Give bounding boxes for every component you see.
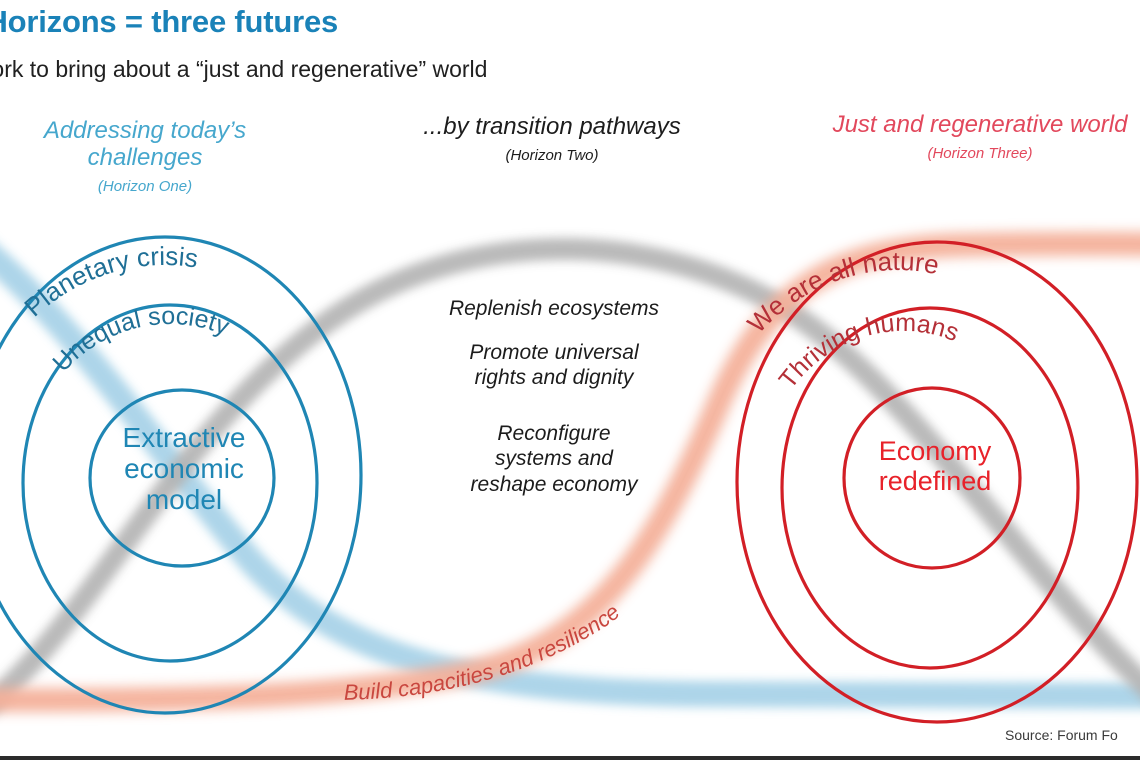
column-heading-horizon-one: Addressing today’s challenges (Horizon O…: [0, 118, 290, 196]
horizon-two-subheading: (Horizon Two): [352, 148, 752, 165]
pathway-line-4: Reconfigure: [393, 421, 715, 447]
pathway-line-3: rights and dignity: [393, 365, 715, 391]
pathway-line-2: Promote universal: [393, 340, 715, 366]
horizon-three-subheading: (Horizon Three): [820, 146, 1140, 163]
source-attribution: Source: Forum Fo: [1005, 727, 1118, 743]
horizon-three-heading: Just and regenerative world: [820, 112, 1140, 139]
horizon-one-subheading: (Horizon One): [0, 179, 290, 196]
page-title: e Horizons = three futures: [0, 4, 338, 40]
column-heading-horizon-two: ...by transition pathways (Horizon Two): [352, 114, 752, 165]
pathway-line-1: Replenish ecosystems: [393, 296, 715, 322]
page-subtitle: ework to bring about a “just and regener…: [0, 56, 487, 83]
svg-text:Unequal society: Unequal society: [47, 302, 233, 377]
column-heading-horizon-three: Just and regenerative world (Horizon Thr…: [820, 112, 1140, 163]
transition-pathways-text: Replenish ecosystems Promote universal r…: [393, 296, 715, 498]
pathway-line-5: systems and: [393, 446, 715, 472]
horizon-one-heading: Addressing today’s challenges: [0, 118, 290, 172]
bottom-rule: [0, 756, 1140, 760]
right-core-label: Economy redefined: [845, 437, 1025, 496]
left-ring-labels: Planetary crisis Unequal society: [18, 241, 233, 377]
infographic-root: Planetary crisis Unequal society We are …: [0, 0, 1140, 760]
horizon-two-heading: ...by transition pathways: [352, 114, 752, 141]
left-middle-label-path: Unequal society: [47, 302, 233, 377]
left-core-label: Extractive economic model: [88, 423, 280, 515]
pathway-line-6: reshape economy: [393, 472, 715, 498]
